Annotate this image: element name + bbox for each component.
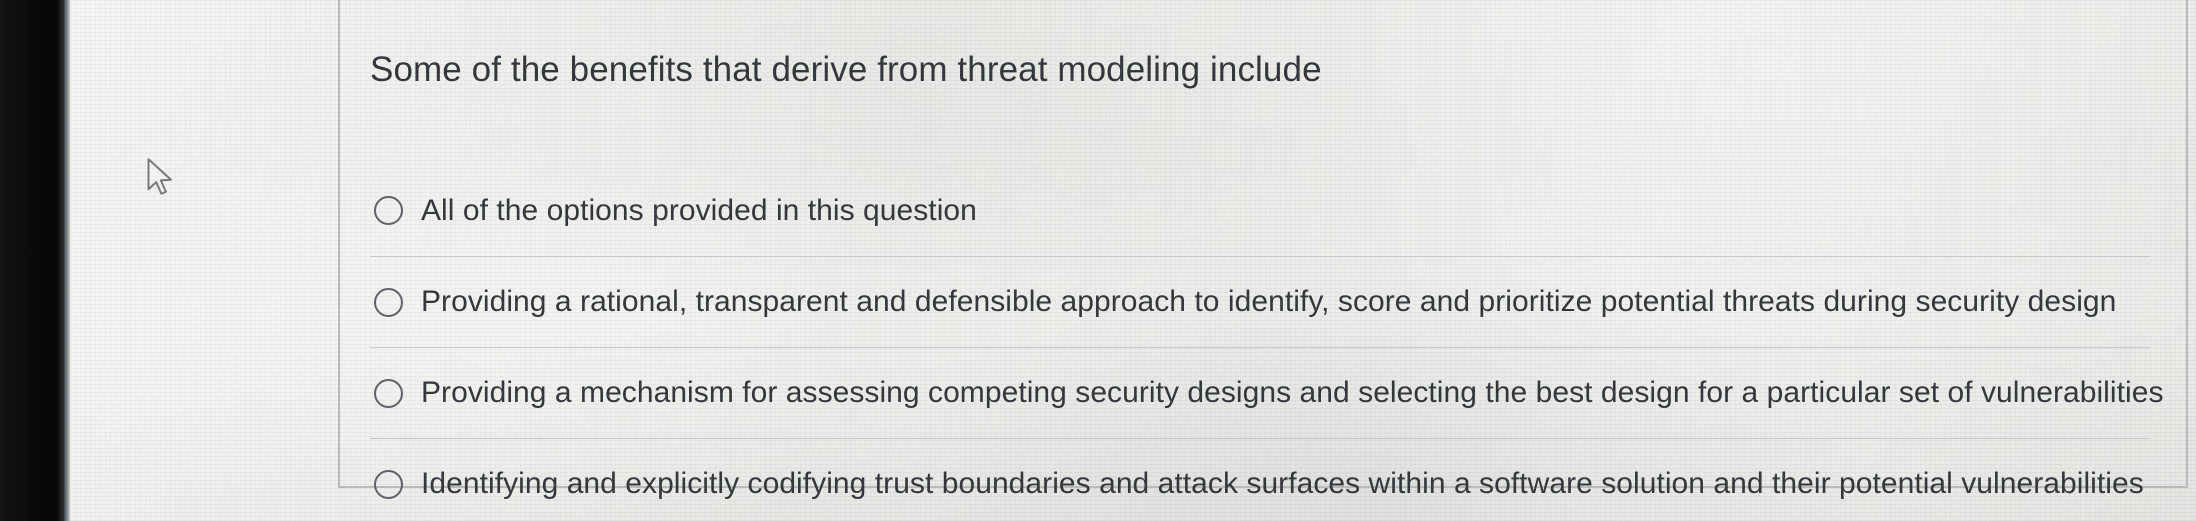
option-label-c: Providing a mechanism for assessing comp… (421, 375, 2164, 411)
screen-surface: Some of the benefits that derive from th… (70, 0, 2196, 521)
option-label-a: All of the options provided in this ques… (421, 193, 977, 229)
option-list: All of the options provided in this ques… (370, 165, 2150, 521)
radio-button-icon-a[interactable] (374, 196, 403, 225)
option-row-c[interactable]: Providing a mechanism for assessing comp… (370, 347, 2150, 438)
option-row-a[interactable]: All of the options provided in this ques… (370, 165, 2150, 256)
option-row-d[interactable]: Identifying and explicitly codifying tru… (370, 438, 2150, 521)
radio-button-icon-c[interactable] (374, 379, 403, 408)
option-label-b: Providing a rational, transparent and de… (421, 284, 2116, 320)
screenshot-root: Some of the benefits that derive from th… (0, 0, 2196, 521)
question-stem: Some of the benefits that derive from th… (370, 48, 1322, 92)
radio-button-icon-d[interactable] (374, 470, 403, 499)
monitor-bezel-edge (64, 0, 70, 521)
radio-button-icon-b[interactable] (374, 288, 403, 317)
option-row-b[interactable]: Providing a rational, transparent and de… (370, 256, 2150, 347)
monitor-bezel-left (0, 0, 64, 521)
option-label-d: Identifying and explicitly codifying tru… (421, 466, 2144, 502)
